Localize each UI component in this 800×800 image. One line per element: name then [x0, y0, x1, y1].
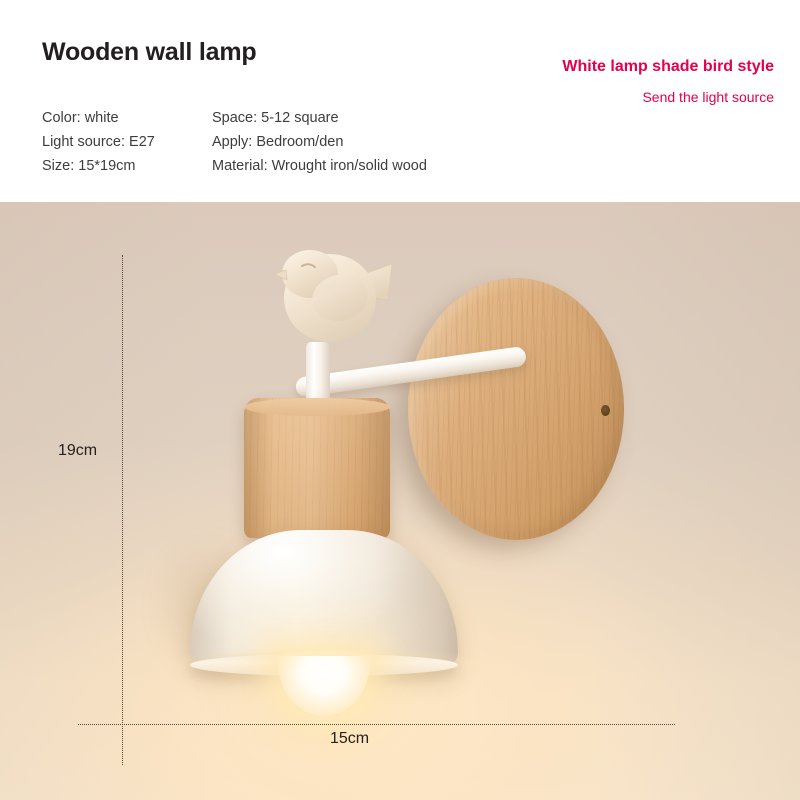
wood-knot [601, 405, 610, 416]
wood-body-top [244, 398, 390, 416]
spec-space: Space: 5-12 square [212, 106, 427, 130]
height-dimension-label: 19cm [58, 442, 97, 460]
wooden-cylinder-body [244, 398, 390, 538]
product-header: Wooden wall lamp White lamp shade bird s… [0, 0, 800, 202]
spec-light-source: Light source: E27 [42, 130, 155, 154]
width-dimension-label: 15cm [330, 730, 369, 748]
spec-material: Material: Wrought iron/solid wood [212, 154, 427, 178]
spec-size: Size: 15*19cm [42, 154, 155, 178]
spec-column-left: Color: white Light source: E27 Size: 15*… [42, 106, 155, 178]
page-title: Wooden wall lamp [42, 38, 256, 67]
promo-subline: Send the light source [642, 89, 774, 105]
product-photo: 19cm 15cm [0, 202, 800, 800]
promo-headline: White lamp shade bird style [562, 58, 774, 76]
bird-figurine [272, 240, 400, 352]
height-guide-line [122, 255, 123, 765]
spec-column-right: Space: 5-12 square Apply: Bedroom/den Ma… [212, 106, 427, 178]
wooden-disc-backplate [408, 278, 624, 540]
width-guide-line [78, 724, 675, 725]
spec-color: Color: white [42, 106, 155, 130]
wall-shading [0, 202, 800, 800]
spec-apply: Apply: Bedroom/den [212, 130, 427, 154]
